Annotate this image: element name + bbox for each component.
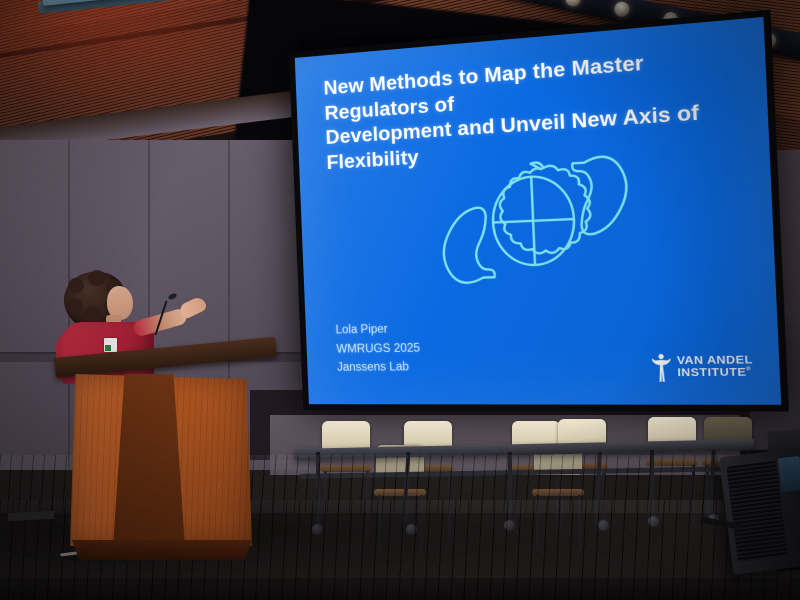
auditorium-photo: New Methods to Map the Master Regulators… <box>0 0 800 600</box>
wooden-podium <box>58 352 273 600</box>
name-badge-accent <box>105 345 111 351</box>
podium-base <box>72 540 252 560</box>
projection-screen-frame: New Methods to Map the Master Regulators… <box>289 10 789 412</box>
byline-lab: Janssens Lab <box>337 358 421 378</box>
stage-monitor-speaker <box>719 447 800 575</box>
presenter-hand <box>178 295 208 320</box>
speaker-grill <box>726 461 787 562</box>
podium-center-inlay <box>113 374 185 548</box>
byline-event: WMRUGS 2025 <box>336 339 420 359</box>
byline-presenter: Lola Piper <box>335 320 419 340</box>
hair-curl <box>88 270 106 286</box>
downlight-icon <box>613 0 631 18</box>
speaker-badge <box>778 456 800 492</box>
van-andel-institute-logo: VAN ANDEL INSTITUTE® <box>651 353 754 382</box>
hair-curl <box>68 278 84 293</box>
hair-curl <box>84 306 102 322</box>
van-andel-figure-icon <box>651 353 672 382</box>
gear-embryo-diagram <box>428 126 643 311</box>
hair-curl <box>66 298 83 315</box>
logo-wordmark: VAN ANDEL INSTITUTE® <box>677 354 754 381</box>
slide-byline: Lola Piper WMRUGS 2025 Janssens Lab <box>335 320 421 378</box>
logo-line-2: INSTITUTE® <box>677 367 754 380</box>
downlight-icon <box>564 0 582 8</box>
projection-screen: New Methods to Map the Master Regulators… <box>295 17 781 405</box>
name-badge <box>104 338 117 352</box>
